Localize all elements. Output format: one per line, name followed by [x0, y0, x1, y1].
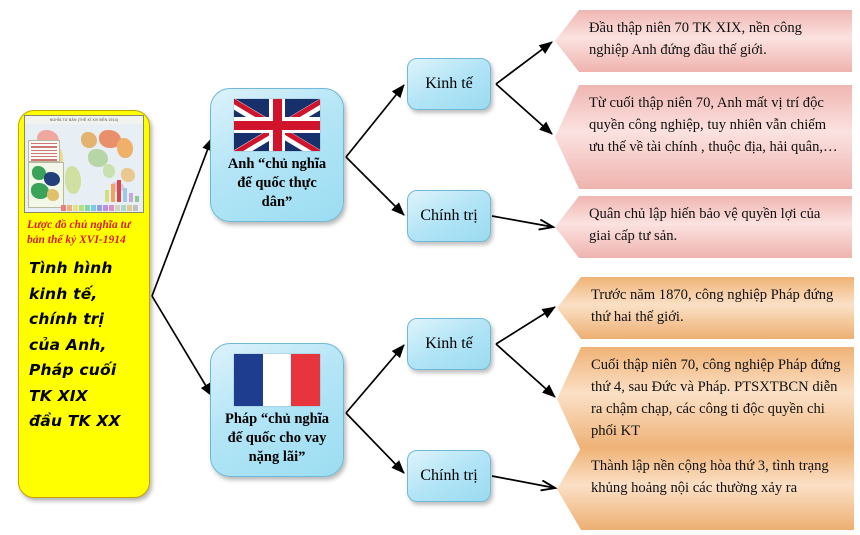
country-label-uk: Anh “chủ nghĩa đế quốc thực dân”: [217, 155, 337, 212]
map-bar-chart: [105, 180, 139, 202]
root-line: TK XIX: [29, 384, 149, 410]
uk-branch-arrows: [346, 85, 404, 215]
world-map-image: NGHĨA TƯ BẢN (THẾ KỈ XVI ĐẾN 1914): [24, 115, 144, 213]
callout-uk-economy-2: Từ cuối thập niên 70, Anh mất vị trí độc…: [555, 85, 852, 189]
root-line: Pháp cuối: [29, 358, 149, 384]
root-line: Tình hình: [29, 256, 149, 282]
root-topic-text: Tình hình kinh tế, chính trị của Anh, Ph…: [29, 256, 149, 435]
uk-economy-message-arrows: [496, 42, 552, 134]
root-line: chính trị: [29, 307, 149, 333]
country-label-line: Anh “chủ nghĩa: [217, 155, 337, 174]
map-caption: Lược đồ chủ nghĩa tư bản thế kỷ XVI-1914: [27, 218, 141, 248]
root-line: kinh tế,: [29, 282, 149, 308]
root-line: đầu TK XX: [29, 409, 149, 435]
map-color-key: [61, 205, 139, 211]
map-legend: [28, 140, 60, 162]
root-branch-arrows: [152, 138, 212, 396]
root-topic-card[interactable]: NGHĨA TƯ BẢN (THẾ KỈ XVI ĐẾN 1914): [18, 110, 150, 498]
country-label-line: đế quốc cho vay: [217, 429, 337, 448]
topic-box-france-politics[interactable]: Chính trị: [407, 450, 491, 502]
country-label-line: Pháp “chủ nghĩa: [217, 410, 337, 429]
country-label-line: nặng lãi”: [217, 448, 337, 467]
country-label-france: Pháp “chủ nghĩa đế quốc cho vay nặng lãi…: [217, 410, 337, 467]
country-label-line: dân”: [217, 193, 337, 212]
country-node-france[interactable]: Pháp “chủ nghĩa đế quốc cho vay nặng lãi…: [210, 343, 344, 477]
country-node-uk[interactable]: Anh “chủ nghĩa đế quốc thực dân”: [210, 88, 344, 222]
topic-box-france-economy[interactable]: Kinh tế: [407, 318, 491, 370]
diagram-canvas: NGHĨA TƯ BẢN (THẾ KỈ XVI ĐẾN 1914): [0, 0, 860, 535]
topic-box-uk-economy[interactable]: Kinh tế: [407, 58, 491, 110]
map-inset: [28, 162, 64, 208]
country-label-line: đế quốc thực: [217, 174, 337, 193]
france-flag-icon: [234, 354, 320, 406]
root-line: của Anh,: [29, 333, 149, 359]
fr-economy-message-arrows: [496, 307, 555, 397]
callout-uk-politics-1: Quân chủ lập hiến bảo vệ quyền lợi của g…: [555, 196, 852, 258]
callout-france-economy-1: Trước năm 1870, công nghiệp Pháp đứng th…: [557, 277, 854, 339]
callout-uk-economy-1: Đầu thập niên 70 TK XIX, nền công nghiệp…: [555, 10, 852, 72]
fr-branch-arrows: [346, 345, 404, 473]
callout-france-economy-2: Cuối thập niên 70, công nghiệp Pháp đứng…: [557, 347, 854, 451]
fr-politics-message-arrow: [492, 476, 555, 488]
callout-france-politics-1: Thành lập nền cộng hòa thứ 3, tình trạng…: [557, 448, 854, 530]
uk-politics-message-arrow: [492, 216, 553, 227]
topic-box-uk-politics[interactable]: Chính trị: [407, 190, 491, 242]
uk-flag-icon: [234, 99, 320, 151]
